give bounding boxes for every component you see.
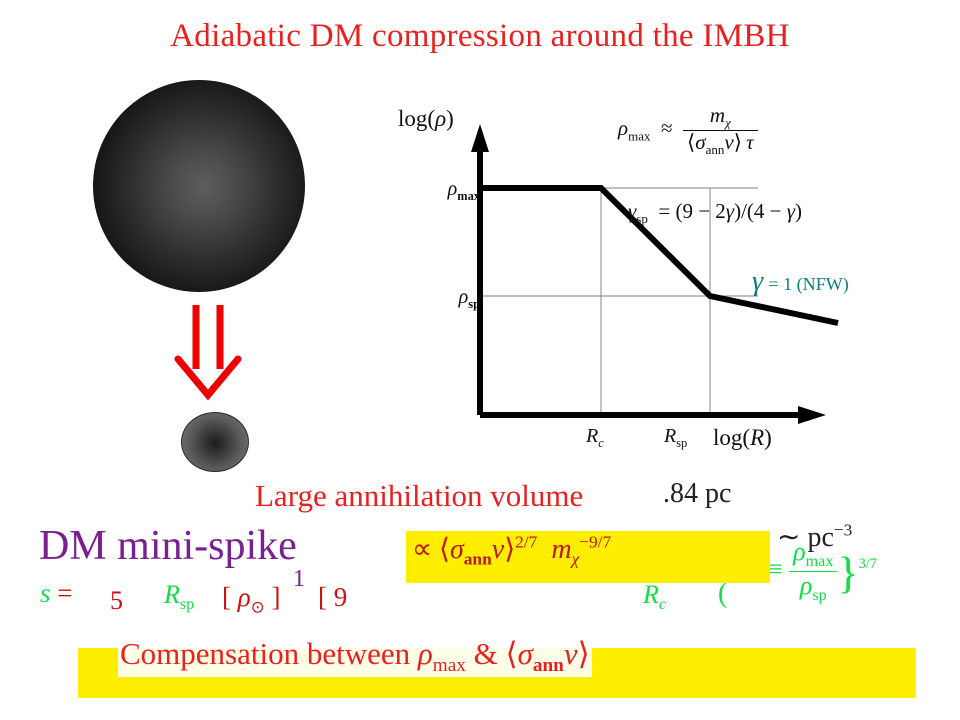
compensation-prefix: Compensation between: [120, 636, 418, 671]
bg-fragment-rho-ratio: ≡ ρmax ρsp }3/7: [768, 538, 877, 605]
highlighted-scaling-formula: ∝ ⟨σannv⟩2/7 mχ−9/7: [412, 532, 611, 570]
callout-large-annihilation-volume: Large annihilation volume: [253, 478, 585, 514]
callout-compensation: Compensation between ρmax & ⟨σannv⟩: [118, 636, 592, 677]
bg-fragment-r-sp: Rsp: [164, 580, 194, 614]
bg-fragment-pc-value: .84 pc: [663, 478, 731, 510]
bg-fragment-nine: [ 9: [318, 582, 347, 613]
bg-fragment-s-equals: s =: [40, 578, 73, 609]
bg-fragment-purple-mark: 1: [293, 566, 305, 593]
bg-fragment-rho-sun: [ ρ⊙ ]: [222, 582, 281, 617]
bg-fragment-r-c: Rc: [643, 580, 666, 614]
slide-canvas: Adiabatic DM compression around the IMBH…: [0, 0, 960, 720]
callout-dm-mini-spike: DM mini-spike: [36, 522, 300, 570]
bg-fragment-five: 5: [110, 586, 123, 616]
background-equation-layer: .84 pc ∼ pc−3 ≡ ρmax ρsp }3/7 s = 5 Rsp …: [0, 0, 960, 720]
